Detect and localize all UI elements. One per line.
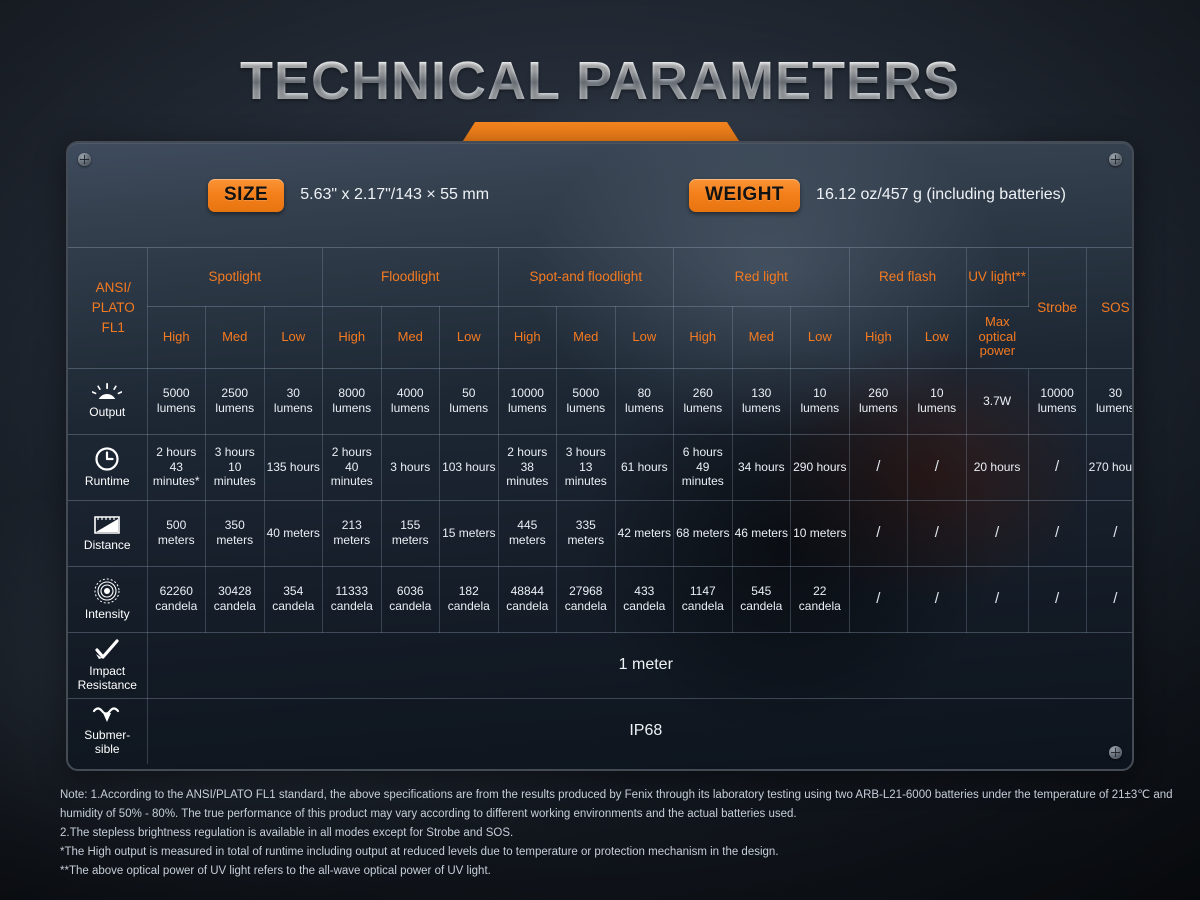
clock-icon — [94, 446, 120, 472]
footer-notes: Note: 1.According to the ANSI/PLATO FL1 … — [60, 786, 1180, 881]
size-label: SIZE — [208, 179, 284, 212]
cell: 290 hours — [791, 434, 850, 500]
screw-icon-bottom-right — [1109, 746, 1122, 759]
row-label-impact-resistance: ImpactResistance — [68, 632, 147, 698]
row-label-text: Runtime — [85, 474, 130, 488]
cell: 4000 lumens — [381, 368, 440, 434]
impact-check-icon — [93, 638, 121, 662]
weight-value: 16.12 oz/457 g (including batteries) — [816, 186, 1066, 204]
impact-resistance-value: 1 meter — [147, 632, 1134, 698]
cell: 335 meters — [557, 500, 616, 566]
cell: 155 meters — [381, 500, 440, 566]
cell: 213 meters — [323, 500, 382, 566]
cell: / — [849, 434, 908, 500]
level-header-0: High — [147, 306, 206, 368]
group-header-uv-light: UV light** — [966, 248, 1028, 306]
cell: 61 hours — [615, 434, 674, 500]
level-header-13: Low — [908, 306, 967, 368]
ansi-line-2: PLATO — [92, 300, 135, 315]
cell: 15 meters — [440, 500, 499, 566]
cell: 182 candela — [440, 566, 499, 632]
cell: 103 hours — [440, 434, 499, 500]
cell: 11333 candela — [323, 566, 382, 632]
group-header-red-light: Red light — [674, 248, 850, 306]
cell: / — [849, 500, 908, 566]
row-label-submersible: Submer-sible — [68, 698, 147, 764]
size-weight-bar: SIZE 5.63" x 2.17"/143 × 55 mm WEIGHT 16… — [68, 143, 1132, 248]
cell: / — [849, 566, 908, 632]
table-row: Runtime 2 hours 43 minutes* 3 hours 10 m… — [68, 434, 1134, 500]
cell: 350 meters — [206, 500, 265, 566]
page-title-container: TECHNICAL PARAMETERS — [0, 50, 1200, 112]
note-line-4: **The above optical power of UV light re… — [60, 862, 1180, 881]
cell: 30428 candela — [206, 566, 265, 632]
cell: 500 meters — [147, 500, 206, 566]
row-label-distance: Distance — [68, 500, 147, 566]
size-group: SIZE 5.63" x 2.17"/143 × 55 mm — [208, 179, 489, 212]
note-line-2: 2.The stepless brightness regulation is … — [60, 824, 1180, 843]
cell: / — [1028, 434, 1086, 500]
level-header-6: High — [498, 306, 557, 368]
cell: 22 candela — [791, 566, 850, 632]
cell: 10 lumens — [908, 368, 967, 434]
cell: 3.7W — [966, 368, 1028, 434]
level-header-2: Low — [264, 306, 323, 368]
note-line-3: *The High output is measured in total of… — [60, 843, 1180, 862]
cell: 3 hours 10 minutes — [206, 434, 265, 500]
cell: 46 meters — [732, 500, 791, 566]
cell: 6 hours 49 minutes — [674, 434, 733, 500]
table-body: Output 5000 lumens 2500 lumens 30 lumens… — [68, 368, 1134, 764]
table-row: Distance 500 meters 350 meters 40 meters… — [68, 500, 1134, 566]
level-header-11: Low — [791, 306, 850, 368]
sun-burst-icon — [92, 383, 122, 403]
beam-distance-icon — [92, 514, 122, 536]
cell: 5000 lumens — [557, 368, 616, 434]
cell: 445 meters — [498, 500, 557, 566]
cell: / — [1086, 566, 1134, 632]
cell: / — [1028, 566, 1086, 632]
row-label-output: Output — [68, 368, 147, 434]
cell: 5000 lumens — [147, 368, 206, 434]
cell: 260 lumens — [849, 368, 908, 434]
level-header-10: Med — [732, 306, 791, 368]
cell: 30 lumens — [264, 368, 323, 434]
level-header-3: High — [323, 306, 382, 368]
group-header-red-flash: Red flash — [849, 248, 966, 306]
cell: 433 candela — [615, 566, 674, 632]
table-row: ImpactResistance 1 meter — [68, 632, 1134, 698]
weight-group: WEIGHT 16.12 oz/457 g (including batteri… — [689, 179, 1066, 212]
cell: / — [908, 500, 967, 566]
level-header-9: High — [674, 306, 733, 368]
cell: 68 meters — [674, 500, 733, 566]
cell: 2 hours 40 minutes — [323, 434, 382, 500]
table-head: ANSI/ PLATO FL1 Spotlight Floodlight Spo… — [68, 248, 1134, 368]
row-label-text: Intensity — [85, 607, 130, 621]
cell: 10000 lumens — [498, 368, 557, 434]
ansi-line-3: FL1 — [102, 320, 125, 335]
cell: 40 meters — [264, 500, 323, 566]
cell: / — [1086, 500, 1134, 566]
group-header-spotlight: Spotlight — [147, 248, 323, 306]
level-header-row: High Med Low High Med Low High Med Low H… — [68, 306, 1134, 368]
cell: 8000 lumens — [323, 368, 382, 434]
cell: / — [908, 434, 967, 500]
row-label-text: ImpactResistance — [78, 664, 137, 692]
cell: 3 hours — [381, 434, 440, 500]
level-header-8: Low — [615, 306, 674, 368]
row-label-intensity: Intensity — [68, 566, 147, 632]
target-intensity-icon — [93, 577, 121, 605]
group-header-row: ANSI/ PLATO FL1 Spotlight Floodlight Spo… — [68, 248, 1134, 306]
wave-submersible-icon — [92, 706, 122, 726]
cell: 6036 candela — [381, 566, 440, 632]
cell: 42 meters — [615, 500, 674, 566]
size-value: 5.63" x 2.17"/143 × 55 mm — [300, 186, 489, 204]
group-header-spot-and-floodlight: Spot-and floodlight — [498, 248, 674, 306]
cell: 260 lumens — [674, 368, 733, 434]
cell: 3 hours 13 minutes — [557, 434, 616, 500]
cell: / — [966, 566, 1028, 632]
cell: / — [908, 566, 967, 632]
group-header-strobe: Strobe — [1028, 248, 1086, 368]
level-header-5: Low — [440, 306, 499, 368]
group-header-sos: SOS — [1086, 248, 1134, 368]
note-line-1: Note: 1.According to the ANSI/PLATO FL1 … — [60, 786, 1180, 824]
cell: 354 candela — [264, 566, 323, 632]
cell: 10000 lumens — [1028, 368, 1086, 434]
spec-panel: SIZE 5.63" x 2.17"/143 × 55 mm WEIGHT 16… — [66, 141, 1134, 771]
cell: 135 hours — [264, 434, 323, 500]
page-title: TECHNICAL PARAMETERS — [0, 50, 1200, 112]
row-label-runtime: Runtime — [68, 434, 147, 500]
table-row: Intensity 62260 candela 30428 candela 35… — [68, 566, 1134, 632]
group-header-floodlight: Floodlight — [323, 248, 499, 306]
cell: 130 lumens — [732, 368, 791, 434]
screw-icon-top-right — [1109, 153, 1122, 166]
cell: 2 hours 38 minutes — [498, 434, 557, 500]
screw-icon-top-left — [78, 153, 91, 166]
table-row: Output 5000 lumens 2500 lumens 30 lumens… — [68, 368, 1134, 434]
cell: 10 lumens — [791, 368, 850, 434]
row-label-text: Submer-sible — [84, 728, 130, 756]
cell: 50 lumens — [440, 368, 499, 434]
cell: 1147 candela — [674, 566, 733, 632]
cell: 20 hours — [966, 434, 1028, 500]
ansi-plato-fl1-label: ANSI/ PLATO FL1 — [68, 248, 147, 368]
cell: 30 lumens — [1086, 368, 1134, 434]
cell: 270 hours — [1086, 434, 1134, 500]
level-header-14: Max optical power — [966, 306, 1028, 368]
cell: 62260 candela — [147, 566, 206, 632]
cell: / — [966, 500, 1028, 566]
cell: 2500 lumens — [206, 368, 265, 434]
cell: 80 lumens — [615, 368, 674, 434]
table-row: Submer-sible IP68 — [68, 698, 1134, 764]
level-header-4: Med — [381, 306, 440, 368]
level-header-7: Med — [557, 306, 616, 368]
cell: 545 candela — [732, 566, 791, 632]
cell: 2 hours 43 minutes* — [147, 434, 206, 500]
row-label-text: Distance — [84, 538, 131, 552]
level-header-1: Med — [206, 306, 265, 368]
level-header-12: High — [849, 306, 908, 368]
submersible-value: IP68 — [147, 698, 1134, 764]
specifications-table: ANSI/ PLATO FL1 Spotlight Floodlight Spo… — [68, 248, 1134, 764]
cell: 27968 candela — [557, 566, 616, 632]
cell: 34 hours — [732, 434, 791, 500]
ansi-line-1: ANSI/ — [96, 280, 131, 295]
cell: / — [1028, 500, 1086, 566]
cell: 10 meters — [791, 500, 850, 566]
weight-label: WEIGHT — [689, 179, 800, 212]
row-label-text: Output — [89, 405, 125, 419]
cell: 48844 candela — [498, 566, 557, 632]
